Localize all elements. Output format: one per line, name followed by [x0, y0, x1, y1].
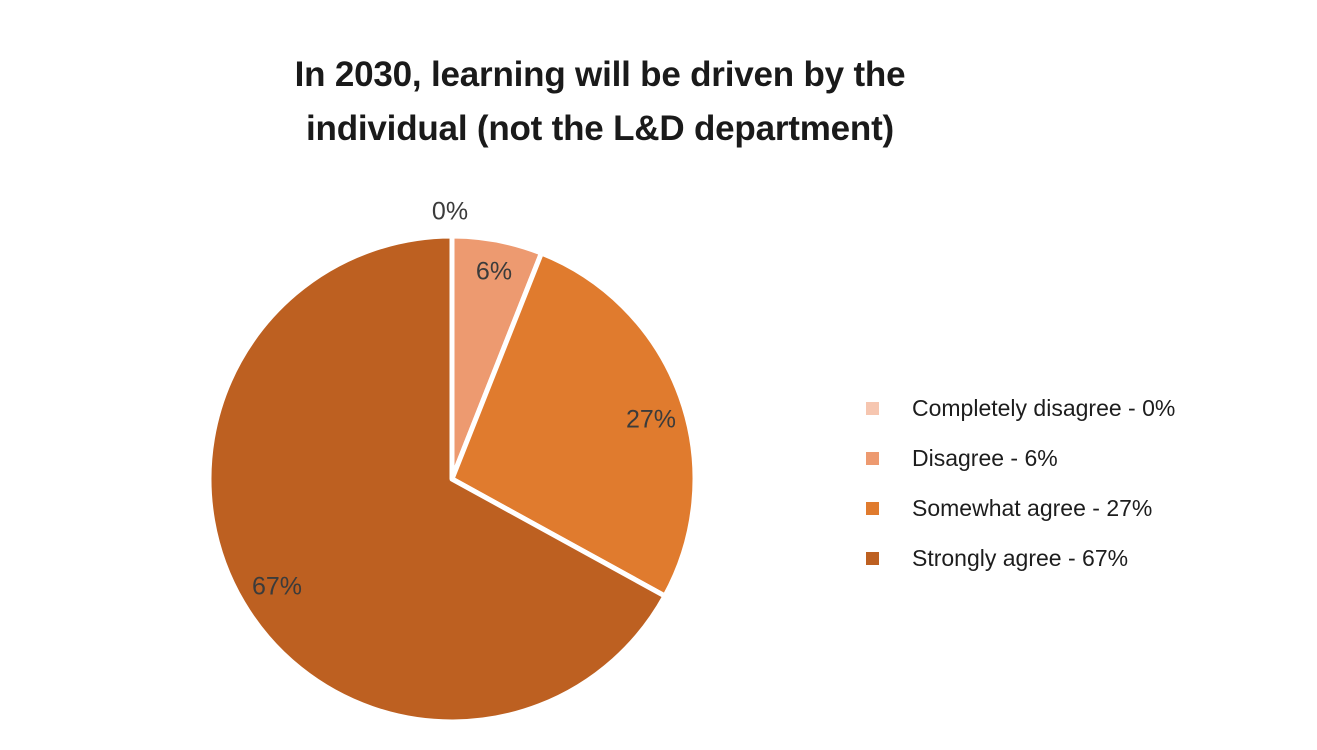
legend-item-strongly-agree[interactable]: Strongly agree - 67%: [866, 533, 1286, 583]
legend-item-label: Somewhat agree - 27%: [912, 497, 1152, 520]
legend-swatch-icon: [866, 402, 879, 415]
legend-swatch-icon: [866, 552, 879, 565]
pie-plot-area: 0% 6% 27% 67%: [0, 0, 860, 750]
legend-item-label: Strongly agree - 67%: [912, 547, 1128, 570]
pie-svg: [0, 0, 860, 750]
chart-legend: Completely disagree - 0% Disagree - 6% S…: [866, 383, 1286, 583]
legend-swatch-icon: [866, 502, 879, 515]
legend-item-disagree[interactable]: Disagree - 6%: [866, 433, 1286, 483]
legend-item-label: Completely disagree - 0%: [912, 397, 1175, 420]
pie-chart-figure: In 2030, learning will be driven by the …: [0, 0, 1317, 750]
legend-item-somewhat-agree[interactable]: Somewhat agree - 27%: [866, 483, 1286, 533]
legend-swatch-icon: [866, 452, 879, 465]
legend-item-label: Disagree - 6%: [912, 447, 1058, 470]
legend-item-completely-disagree[interactable]: Completely disagree - 0%: [866, 383, 1286, 433]
